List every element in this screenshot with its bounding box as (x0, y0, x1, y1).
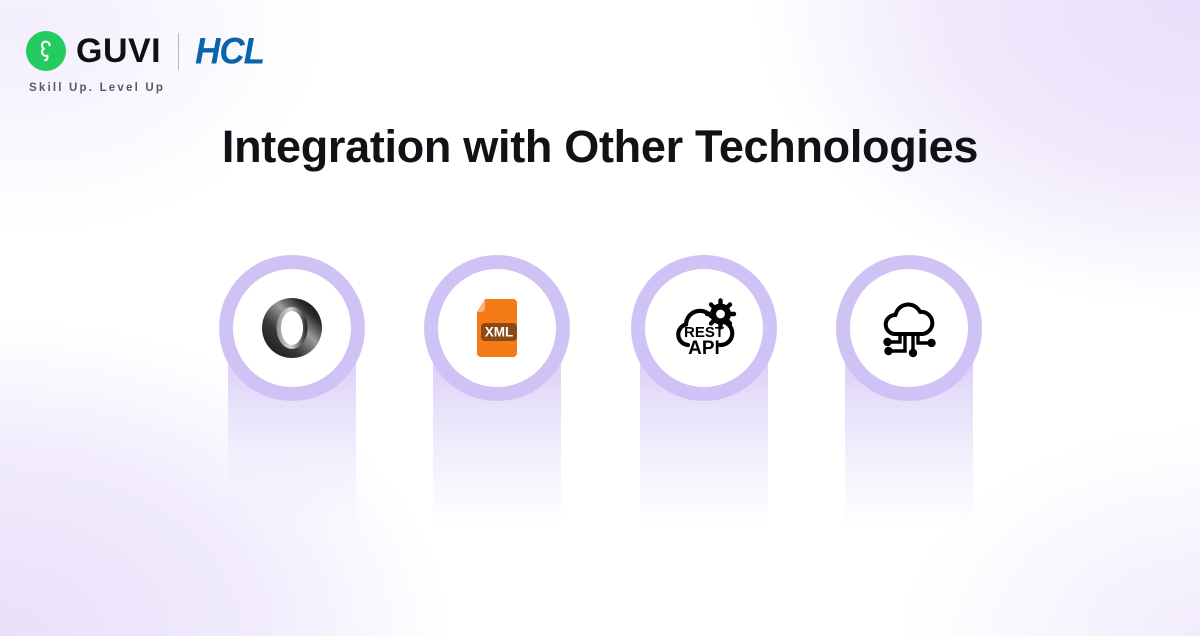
brand-lockup: GUVI HCL Skill Up. Level Up (26, 29, 264, 94)
ring-inner-rest-api: REST API (645, 269, 763, 387)
cloud-network-icon (873, 292, 945, 364)
page-title: Integration with Other Technologies (0, 121, 1200, 173)
technology-item-xml[interactable]: XML (424, 255, 570, 615)
vertical-divider-icon (178, 33, 179, 70)
ring-inner-xml: XML (438, 269, 556, 387)
technology-icon-row: XML (0, 255, 1200, 615)
brand-tagline: Skill Up. Level Up (29, 82, 264, 94)
json-logo-icon (256, 292, 328, 364)
ring-cloud (836, 255, 982, 401)
ring-inner-json (233, 269, 351, 387)
rest-api-text-line-2: API (688, 338, 720, 359)
hcl-wordmark: HCL (195, 33, 264, 70)
slide-canvas: GUVI HCL Skill Up. Level Up Integration … (0, 0, 1200, 636)
ring-inner-cloud (850, 269, 968, 387)
technology-item-cloud[interactable] (836, 255, 982, 615)
guvi-wordmark: GUVI (76, 34, 161, 68)
xml-badge-text: XML (485, 325, 514, 340)
xml-file-icon: XML (461, 292, 533, 364)
brand-logo-row: GUVI HCL (26, 29, 264, 73)
ring-xml: XML (424, 255, 570, 401)
ring-json (219, 255, 365, 401)
technology-item-json[interactable] (219, 255, 365, 615)
ring-rest-api: REST API (631, 255, 777, 401)
guvi-g-mark-icon (26, 31, 66, 71)
rest-api-cloud-gear-icon: REST API (668, 292, 740, 364)
technology-item-rest-api[interactable]: REST API (631, 255, 777, 615)
